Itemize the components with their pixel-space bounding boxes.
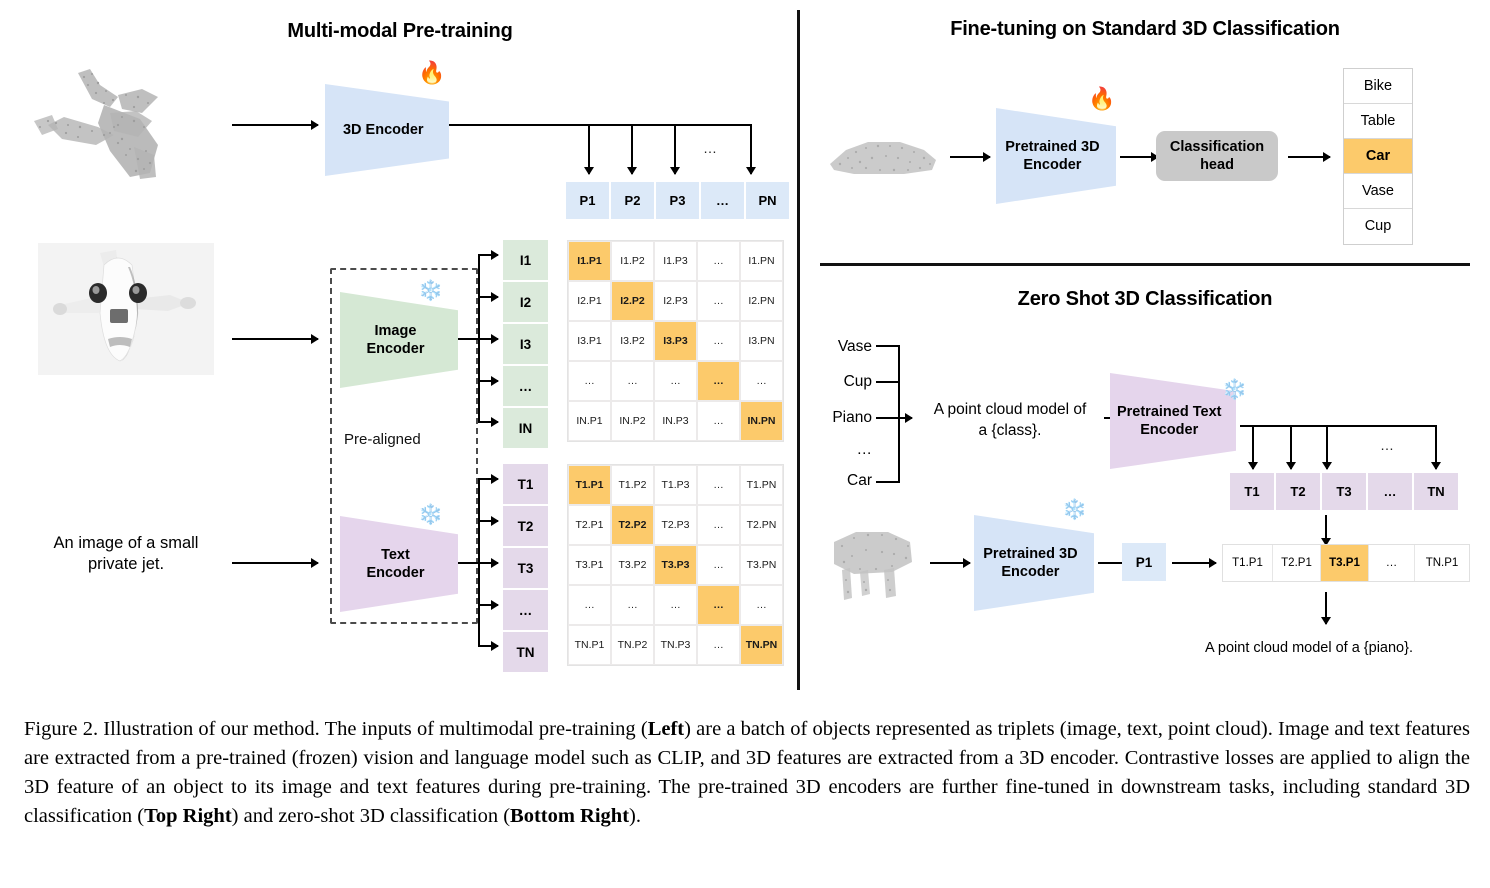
line-textenc-out xyxy=(1240,425,1437,427)
point-token: PN xyxy=(746,182,789,219)
zs-class-cup: Cup xyxy=(812,373,872,391)
zs-class-piano: Piano xyxy=(812,409,872,427)
text-matrix-cell: T1.P2 xyxy=(611,465,654,505)
image-matrix-cell: I3.P3 xyxy=(654,321,697,361)
text-matrix-cell: … xyxy=(568,585,611,625)
arrow-to-i2 xyxy=(478,296,498,298)
image-matrix-cell: … xyxy=(697,241,740,281)
text-matrix-cell: … xyxy=(654,585,697,625)
image-matrix-cell: … xyxy=(611,361,654,401)
zs-text-token: TN xyxy=(1414,473,1458,510)
figure-canvas: Multi-modal Pre-training Fine-tuning on … xyxy=(0,0,1490,700)
piano-point-cloud xyxy=(826,524,922,608)
image-label: IN xyxy=(503,408,548,448)
image-label: I3 xyxy=(503,324,548,364)
pretrained-3d-encoder-zeroshot[interactable]: Pretrained 3DEncoder xyxy=(974,515,1094,611)
arrow-zs-t2 xyxy=(1290,425,1292,469)
text-input-caption: An image of a small private jet. xyxy=(26,533,226,576)
image-similarity-matrix: I1.P1I1.P2I1.P3…I1.PNI2.P1I2.P2I2.P3…I2.… xyxy=(567,240,784,442)
encoder-image-label: ImageEncoder xyxy=(366,322,431,358)
snowflake-icon-3d-encoder-zs: ❄️ xyxy=(1062,500,1087,520)
arrow-to-tdots xyxy=(478,604,498,606)
text-input-line2: private jet. xyxy=(88,555,164,573)
zs-class-car: Car xyxy=(812,472,872,490)
snowflake-icon-text-encoder-zs: ❄️ xyxy=(1222,380,1247,400)
airplane-rendered-image xyxy=(38,243,214,375)
class-item-vase[interactable]: Vase xyxy=(1344,174,1412,209)
zs-score: T1.P1 xyxy=(1223,545,1273,581)
image-matrix-cell: IN.P3 xyxy=(654,401,697,441)
prompt-template: A point cloud model ofa {class}. xyxy=(915,400,1105,442)
pretrained-3d-encoder-finetune[interactable]: Pretrained 3DEncoder xyxy=(996,108,1116,204)
class-bracket-cup xyxy=(876,381,900,383)
arrow-to-in xyxy=(478,421,498,423)
text-matrix-cell: T3.PN xyxy=(740,545,783,585)
encoder-image[interactable]: ImageEncoder xyxy=(340,292,458,388)
text-matrix-cell: TN.P1 xyxy=(568,625,611,665)
text-matrix-cell: TN.P3 xyxy=(654,625,697,665)
bottomright-panel-title: Zero Shot 3D Classification xyxy=(880,288,1410,311)
text-matrix-cell: T3.P2 xyxy=(611,545,654,585)
class-item-car[interactable]: Car xyxy=(1344,139,1412,174)
zs-score-predicted: T3.P1 xyxy=(1321,545,1369,581)
zs-point-token-p1: P1 xyxy=(1122,543,1166,581)
arrow-p1-to-scores xyxy=(1172,562,1216,564)
output-prompt: A point cloud model of a {piano}. xyxy=(1205,640,1413,656)
arrow-to-t1 xyxy=(478,478,498,480)
point-token: P2 xyxy=(611,182,654,219)
arrow-to-pn xyxy=(750,124,752,174)
caption-part1: Figure 2. Illustration of our method. Th… xyxy=(24,718,648,740)
airplane-point-cloud xyxy=(18,55,233,220)
arrow-to-t2 xyxy=(478,520,498,522)
topright-panel-title: Fine-tuning on Standard 3D Classificatio… xyxy=(880,18,1410,41)
image-matrix-cell: … xyxy=(654,361,697,401)
class-item-cup[interactable]: Cup xyxy=(1344,209,1412,244)
class-bracket-bottom xyxy=(876,481,900,483)
zs-text-token: … xyxy=(1368,473,1412,510)
text-label: T3 xyxy=(503,548,548,588)
classification-head-label: Classificationhead xyxy=(1170,138,1264,174)
zs-class-ellipsis: … xyxy=(812,441,872,459)
text-matrix-cell: … xyxy=(740,585,783,625)
text-matrix-cell: T2.P3 xyxy=(654,505,697,545)
fire-icon: 🔥 xyxy=(418,62,445,84)
text-matrix-cell: TN.P2 xyxy=(611,625,654,665)
point-token: … xyxy=(701,182,744,219)
text-input-line1: An image of a small xyxy=(54,534,199,552)
ellipsis-p-arrows: … xyxy=(703,140,717,156)
text-matrix-cell: … xyxy=(697,545,740,585)
text-matrix-cell: … xyxy=(697,585,740,625)
image-matrix-cell: I3.P1 xyxy=(568,321,611,361)
image-label: I1 xyxy=(503,240,548,280)
arrow-ttokens-to-scores xyxy=(1325,515,1327,545)
point-token: P3 xyxy=(656,182,699,219)
image-matrix-cell: I2.PN xyxy=(740,281,783,321)
text-matrix-cell: … xyxy=(611,585,654,625)
image-matrix-cell: I2.P2 xyxy=(611,281,654,321)
arrow-zs-tn xyxy=(1435,425,1437,469)
image-label: I2 xyxy=(503,282,548,322)
text-matrix-cell: T2.P1 xyxy=(568,505,611,545)
text-matrix-cell: T1.PN xyxy=(740,465,783,505)
image-matrix-cell: I1.P1 xyxy=(568,241,611,281)
encoder-3d[interactable]: 3D Encoder xyxy=(325,84,449,176)
arrow-image-to-encoder xyxy=(232,338,318,340)
encoder-text[interactable]: TextEncoder xyxy=(340,516,458,612)
class-item-bike[interactable]: Bike xyxy=(1344,69,1412,104)
arrow-to-p2 xyxy=(631,124,633,174)
point-token-row: P1 P2 P3 … PN xyxy=(566,182,789,219)
pretrained-text-encoder[interactable]: Pretrained TextEncoder xyxy=(1110,373,1236,469)
arrow-text-to-encoder xyxy=(232,562,318,564)
arrow-to-i1 xyxy=(478,254,498,256)
car-point-cloud xyxy=(824,128,942,186)
arrow-to-i3 xyxy=(478,338,498,340)
text-label: T2 xyxy=(503,506,548,546)
snowflake-icon-image-encoder: ❄️ xyxy=(418,281,443,301)
zs-text-token-row: T1 T2 T3 … TN xyxy=(1230,473,1458,510)
image-matrix-cell: I1.P3 xyxy=(654,241,697,281)
arrow-to-p1 xyxy=(588,124,590,174)
image-matrix-cell: IN.P2 xyxy=(611,401,654,441)
arrow-to-tn xyxy=(478,645,498,647)
text-matrix-cell: … xyxy=(697,465,740,505)
vertical-divider xyxy=(797,10,800,690)
arrow-to-idots xyxy=(478,380,498,382)
image-matrix-cell: I1.PN xyxy=(740,241,783,281)
arrow-class-to-prompt xyxy=(876,417,912,419)
image-matrix-cell: IN.P1 xyxy=(568,401,611,441)
image-matrix-cell: … xyxy=(740,361,783,401)
text-matrix-cell: T3.P1 xyxy=(568,545,611,585)
image-matrix-cell: … xyxy=(697,321,740,361)
zs-score: T2.P1 xyxy=(1273,545,1321,581)
image-matrix-cell: … xyxy=(697,281,740,321)
image-matrix-cell: I1.P2 xyxy=(611,241,654,281)
image-matrix-cell: … xyxy=(697,401,740,441)
image-matrix-cell: … xyxy=(568,361,611,401)
snowflake-icon-text-encoder: ❄️ xyxy=(418,505,443,525)
image-matrix-cell: … xyxy=(697,361,740,401)
caption-bold-topright: Top Right xyxy=(144,805,232,827)
zs-text-token: T2 xyxy=(1276,473,1320,510)
arrow-pointcloud-to-encoder xyxy=(232,124,318,126)
arrow-to-p3 xyxy=(674,124,676,174)
pretrained-3d-encoder-label: Pretrained 3DEncoder xyxy=(1005,138,1106,174)
arrow-head-to-classlist xyxy=(1288,156,1330,158)
text-label: TN xyxy=(503,632,548,672)
left-panel-title: Multi-modal Pre-training xyxy=(180,20,620,43)
point-token: P1 xyxy=(566,182,609,219)
class-item-table[interactable]: Table xyxy=(1344,104,1412,139)
encoder-text-label: TextEncoder xyxy=(366,546,431,582)
text-matrix-cell: … xyxy=(697,505,740,545)
caption-bold-left: Left xyxy=(648,718,684,740)
caption-part4: ). xyxy=(629,805,641,827)
image-matrix-cell: I3.P2 xyxy=(611,321,654,361)
image-label: … xyxy=(503,366,548,406)
horizontal-divider xyxy=(820,263,1470,266)
figure-caption: Figure 2. Illustration of our method. Th… xyxy=(24,715,1470,831)
zs-score: … xyxy=(1369,545,1415,581)
text-matrix-cell: … xyxy=(697,625,740,665)
pretrained-text-encoder-label: Pretrained TextEncoder xyxy=(1117,403,1229,439)
zs-text-token: T1 xyxy=(1230,473,1274,510)
arrow-to-t3 xyxy=(478,562,498,564)
caption-bold-bottomright: Bottom Right xyxy=(510,805,629,827)
arrow-zs-t1 xyxy=(1252,425,1254,469)
text-matrix-cell: T2.P2 xyxy=(611,505,654,545)
encoder-3d-label: 3D Encoder xyxy=(343,121,431,139)
arrow-encoder-to-head xyxy=(1120,156,1158,158)
text-matrix-cell: T1.P1 xyxy=(568,465,611,505)
prealigned-label: Pre-aligned xyxy=(344,431,421,448)
text-label-column: T1 T2 T3 … TN xyxy=(503,464,548,672)
class-bracket-spine xyxy=(898,345,900,483)
zs-text-token: T3 xyxy=(1322,473,1366,510)
caption-part3: ) and zero-shot 3D classification ( xyxy=(232,805,510,827)
fire-icon-finetune: 🔥 xyxy=(1088,88,1115,110)
text-matrix-cell: TN.PN xyxy=(740,625,783,665)
image-matrix-cell: I2.P3 xyxy=(654,281,697,321)
text-matrix-cell: T3.P3 xyxy=(654,545,697,585)
class-list[interactable]: Bike Table Car Vase Cup xyxy=(1343,68,1413,245)
text-label: … xyxy=(503,590,548,630)
image-matrix-cell: IN.PN xyxy=(740,401,783,441)
ellipsis-zs-arrows: … xyxy=(1380,437,1394,453)
zs-class-vase: Vase xyxy=(812,338,872,356)
class-bracket-top xyxy=(876,345,900,347)
line-3d-out xyxy=(449,124,751,126)
text-matrix-cell: T1.P3 xyxy=(654,465,697,505)
pretrained-3d-encoder-zs-label: Pretrained 3DEncoder xyxy=(983,545,1084,581)
image-matrix-cell: I2.P1 xyxy=(568,281,611,321)
text-label: T1 xyxy=(503,464,548,504)
image-matrix-cell: I3.PN xyxy=(740,321,783,361)
text-matrix-cell: T2.PN xyxy=(740,505,783,545)
zs-score-row: T1.P1 T2.P1 T3.P1 … TN.P1 xyxy=(1222,544,1470,582)
text-similarity-matrix: T1.P1T1.P2T1.P3…T1.PNT2.P1T2.P2T2.P3…T2.… xyxy=(567,464,784,666)
zs-score: TN.P1 xyxy=(1415,545,1469,581)
arrow-zs-t3 xyxy=(1326,425,1328,469)
arrow-scores-to-output xyxy=(1325,592,1327,624)
image-label-column: I1 I2 I3 … IN xyxy=(503,240,548,448)
classification-head[interactable]: Classificationhead xyxy=(1156,131,1278,181)
arrow-car-to-encoder xyxy=(950,156,990,158)
arrow-piano-to-encoder xyxy=(930,562,970,564)
